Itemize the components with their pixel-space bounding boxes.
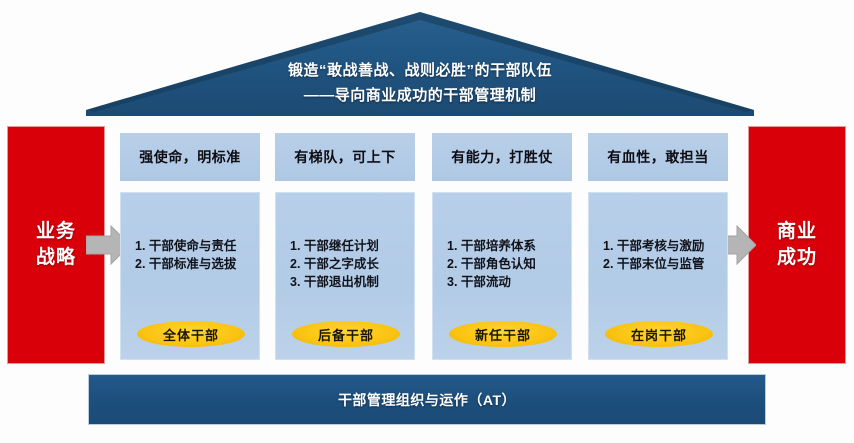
foundation-bar[interactable]: 干部管理组织与运作（AT） <box>88 374 766 425</box>
pillar-badge-4[interactable]: 在岗干部 <box>605 321 713 347</box>
roof-shape: 锻造“敢战善战、战则必胜”的干部队伍 ——导向商业成功的干部管理机制 <box>86 12 754 116</box>
pillar-item-list-2: 1. 干部继任计划 2. 干部之字成长 3. 干部退出机制 <box>290 237 408 291</box>
pillar-header-2[interactable]: 有梯队，可上下 <box>275 133 415 181</box>
business-success-label: 商业 成功 <box>777 219 817 271</box>
list-item: 2. 干部标准与选拔 <box>135 255 253 273</box>
business-success-line2: 成功 <box>777 247 817 268</box>
pillar-body-2: 1. 干部继任计划 2. 干部之字成长 3. 干部退出机制 后备干部 <box>275 192 415 360</box>
business-success-line1: 商业 <box>777 221 817 242</box>
list-item: 3. 干部退出机制 <box>290 273 408 291</box>
business-strategy-line2: 战略 <box>36 247 76 268</box>
list-item: 1. 干部考核与激励 <box>603 237 721 255</box>
pillar-body-4: 1. 干部考核与激励 2. 干部末位与监管 在岗干部 <box>588 192 728 360</box>
business-strategy-line1: 业务 <box>36 221 76 242</box>
business-success-block[interactable]: 商业 成功 <box>748 126 846 364</box>
list-item: 2. 干部末位与监管 <box>603 255 721 273</box>
list-item: 2. 干部角色认知 <box>447 255 565 273</box>
pillar-body-3: 1. 干部培养体系 2. 干部角色认知 3. 干部流动 新任干部 <box>432 192 572 360</box>
pillar-badge-3[interactable]: 新任干部 <box>449 321 557 347</box>
list-item: 1. 干部培养体系 <box>447 237 565 255</box>
pillar-badge-1[interactable]: 全体干部 <box>137 321 245 347</box>
pillar-header-4[interactable]: 有血性，敢担当 <box>588 133 728 181</box>
pillar-header-1[interactable]: 强使命，明标准 <box>120 133 260 181</box>
business-strategy-label: 业务 战略 <box>36 219 76 271</box>
pillar-body-1: 1. 干部使命与责任 2. 干部标准与选拔 全体干部 <box>120 192 260 360</box>
pillar-item-list-3: 1. 干部培养体系 2. 干部角色认知 3. 干部流动 <box>447 237 565 291</box>
pillar-badge-2[interactable]: 后备干部 <box>292 321 400 347</box>
pillar-item-list-1: 1. 干部使命与责任 2. 干部标准与选拔 <box>135 237 253 273</box>
pillar-item-list-4: 1. 干部考核与激励 2. 干部末位与监管 <box>603 237 721 273</box>
pillar-header-3[interactable]: 有能力，打胜仗 <box>432 133 572 181</box>
list-item: 3. 干部流动 <box>447 273 565 291</box>
foundation-label: 干部管理组织与运作（AT） <box>338 390 516 410</box>
diagram-canvas: 锻造“敢战善战、战则必胜”的干部队伍 ——导向商业成功的干部管理机制 业务 战略… <box>0 0 854 443</box>
list-item: 1. 干部继任计划 <box>290 237 408 255</box>
list-item: 2. 干部之字成长 <box>290 255 408 273</box>
list-item: 1. 干部使命与责任 <box>135 237 253 255</box>
